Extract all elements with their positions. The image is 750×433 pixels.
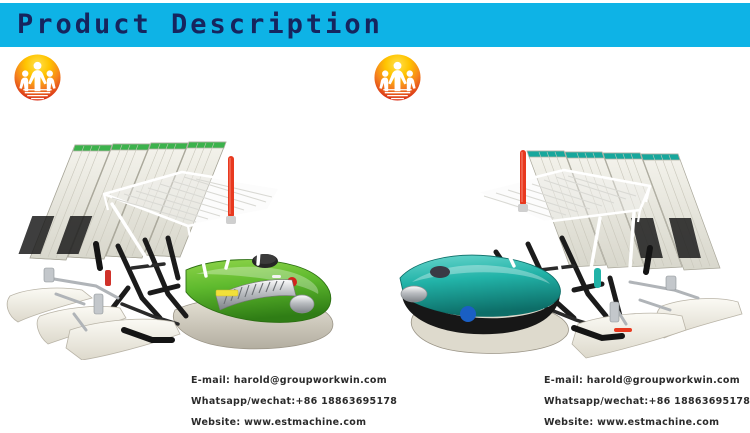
company-logo-right xyxy=(373,53,422,102)
contact-email: E-mail: harold@groupworkwin.com xyxy=(544,370,750,391)
contact-block-left: E-mail: harold@groupworkwin.com Whatsapp… xyxy=(191,370,397,433)
company-logo-left xyxy=(13,53,62,102)
contact-whatsapp: Whatsapp/wechat:+86 18863695178 xyxy=(191,391,397,412)
contact-block-right: E-mail: harold@groupworkwin.com Whatsapp… xyxy=(544,370,750,433)
sun-figures-logo-icon xyxy=(13,53,62,102)
product-image-green-transplanter xyxy=(0,118,372,360)
product-description-page: Product Description xyxy=(0,0,750,430)
section-banner: Product Description xyxy=(0,3,750,47)
contact-email: E-mail: harold@groupworkwin.com xyxy=(191,370,397,391)
product-image-teal-transplanter xyxy=(378,118,750,360)
page-title: Product Description xyxy=(17,9,383,41)
green-rice-transplanter-illustration xyxy=(0,118,372,360)
sun-figures-logo-icon xyxy=(373,53,422,102)
teal-rice-transplanter-illustration xyxy=(378,118,750,360)
contact-whatsapp: Whatsapp/wechat:+86 18863695178 xyxy=(544,391,750,412)
